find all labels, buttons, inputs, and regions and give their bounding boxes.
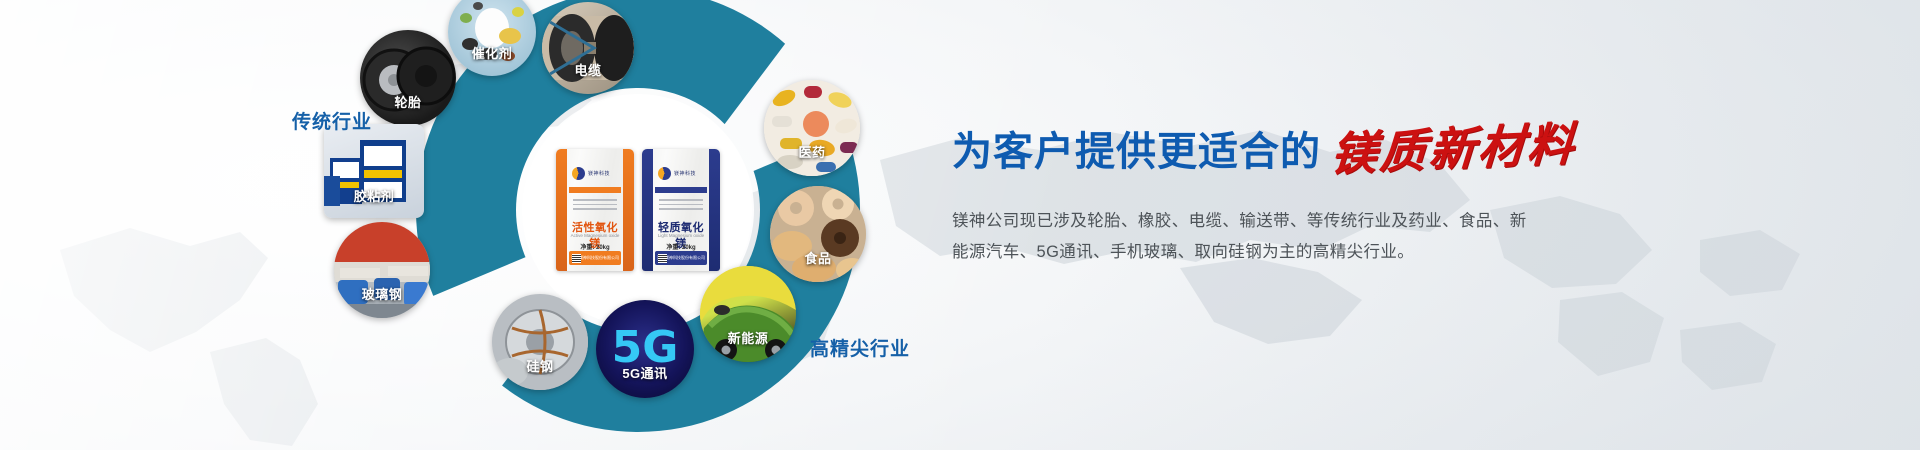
brand-name: 镁神科技 [674,170,696,177]
bag-color-band [569,187,621,193]
bubble-frp[interactable]: 玻璃钢 [334,222,430,318]
five-g-photo: 5G [596,300,694,398]
brand-logo: 镁神科技 [572,165,618,181]
label-traditional-industries: 传统行业 [292,107,372,134]
qr-code-icon [658,254,667,263]
product-name-en: Light Magnesium oxide [655,233,707,238]
product-bag-active-mgo: 镁神科技 活性氧化镁 Active Magnesium oxide 净重: 20… [556,149,634,271]
brand-mark-icon [572,167,585,180]
bag-color-band [655,187,707,193]
bubble-tire[interactable]: 轮胎 [360,30,456,126]
bag-side-stripe-left [556,149,567,271]
bubble-medicine[interactable]: 医药 [764,80,860,176]
tire-photo [360,30,456,126]
bubble-caption: 5G通讯 [596,363,694,382]
bubble-silicon-steel[interactable]: 硅钢 [492,294,588,390]
brand-logo: 镁神科技 [658,165,704,181]
catalyst-photo [448,0,536,76]
bubble-caption: 硅钢 [492,356,588,375]
product-net-weight: 净重: 20kg [569,242,621,251]
headline-red-text: 镁质新材料 [1329,121,1578,178]
description-line-1: 镁神公司现已涉及轮胎、橡胶、电缆、输送带、等传统行业及药业、食品、新 [952,206,1672,237]
product-net-weight: 净重: 20kg [655,242,707,251]
bubble-caption: 催化剂 [448,43,536,62]
medicine-photo [764,80,860,176]
bubble-new-energy[interactable]: 新能源 [700,266,796,362]
new-energy-photo [700,266,796,362]
product-name-en: Active Magnesium oxide [569,233,621,238]
brand-name: 镁神科技 [588,170,610,177]
bubble-caption: 医药 [764,142,860,161]
bubble-caption: 玻璃钢 [334,284,430,303]
bag-spec-lines [573,199,617,213]
product-bag-light-mgo: 镁神科技 轻质氧化镁 Light Magnesium oxide 净重: 20k… [642,149,720,271]
cable-photo [542,2,634,94]
brand-mark-icon [658,167,671,180]
bubble-cable[interactable]: 电缆 [542,2,634,94]
description-line-2: 能源汽车、5G通讯、手机玻璃、取向硅钢为主的高精尖行业。 [952,237,1672,268]
label-highend-industries: 高精尖行业 [810,334,910,361]
bubble-caption: 食品 [770,248,866,267]
bag-spec-lines [659,199,703,213]
industry-wheel-graphic: 镁神科技 活性氧化镁 Active Magnesium oxide 净重: 20… [330,0,1010,450]
frp-photo [334,222,430,318]
description-paragraph: 镁神公司现已涉及轮胎、橡胶、电缆、输送带、等传统行业及药业、食品、新 能源汽车、… [952,206,1672,268]
bubble-caption: 轮胎 [360,92,456,111]
qr-code-icon [572,254,581,263]
headline: 为客户提供更适合的 镁质新材料 [952,126,1672,172]
promo-banner: 镁神科技 活性氧化镁 Active Magnesium oxide 净重: 20… [0,0,1920,450]
bag-side-stripe-right [709,149,720,271]
bubble-caption: 新能源 [700,328,796,347]
silicon-steel-photo [492,294,588,390]
bubble-caption: 电缆 [542,60,634,79]
bubble-caption: 胶粘剂 [324,186,424,205]
headline-blue-text: 为客户提供更适合的 [952,132,1321,172]
bubble-5g[interactable]: 5G 5G通讯 [596,300,694,398]
bubble-adhesive[interactable]: 胶粘剂 [324,124,424,218]
bag-side-stripe-right [623,149,634,271]
bag-side-stripe-left [642,149,653,271]
bubble-catalyst[interactable]: 催化剂 [448,0,536,76]
copy-block: 为客户提供更适合的 镁质新材料 镁神公司现已涉及轮胎、橡胶、电缆、输送带、等传统… [952,126,1672,268]
